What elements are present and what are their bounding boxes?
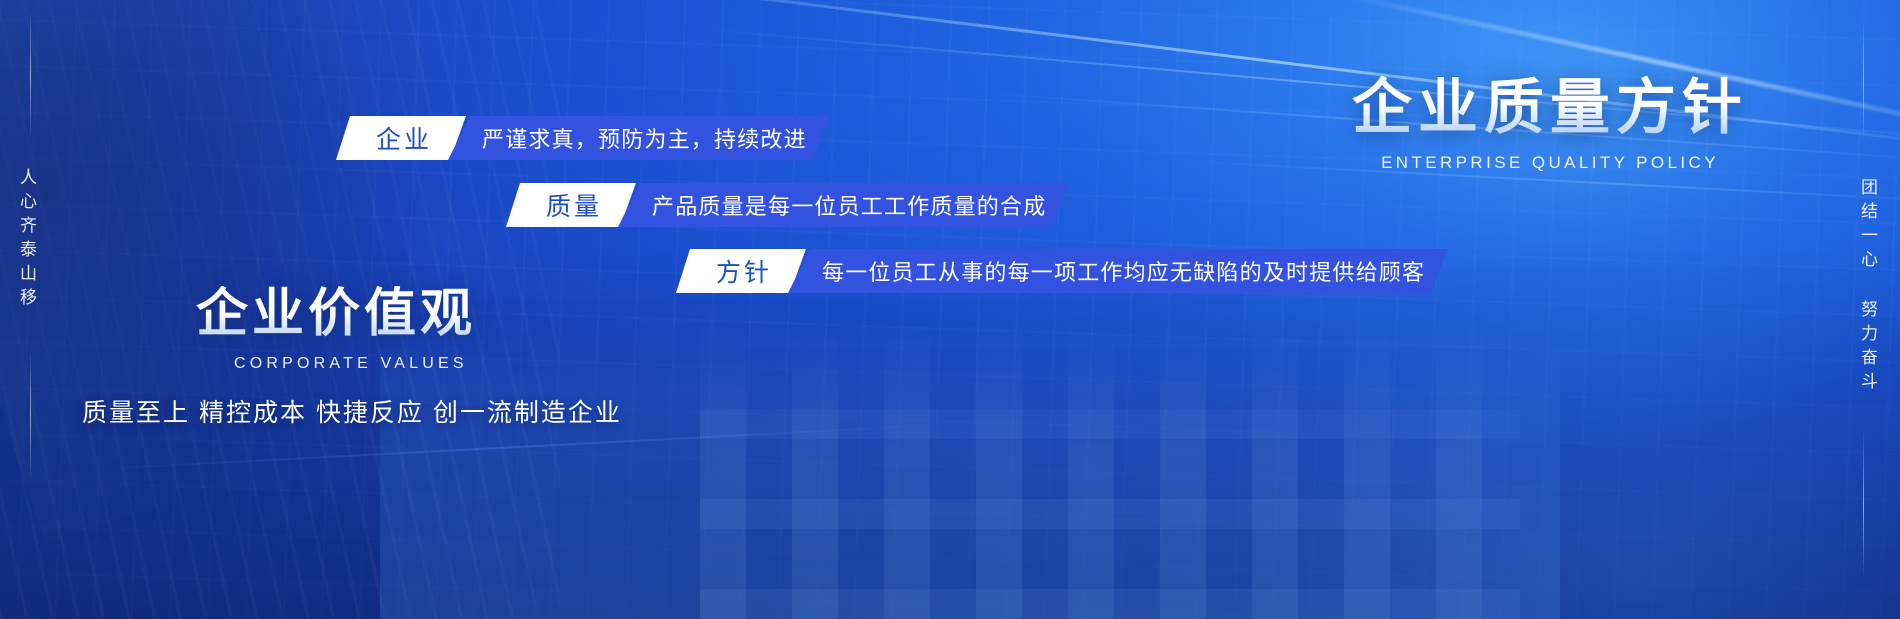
decorative-rule-right-top [1863,22,1864,142]
decorative-rule-left-bottom [30,350,31,480]
policy-row: 质量 产品质量是每一位员工工作质量的合成 [506,183,1068,227]
corporate-values-title: 企业价值观 [196,286,476,343]
corporate-values-slogan: 质量至上 精控成本 快捷反应 创一流制造企业 [82,393,622,429]
policy-row-description: 产品质量是每一位员工工作质量的合成 [618,183,1068,227]
corporate-values-subtitle: CORPORATE VALUES [234,355,476,373]
policy-row: 方针 每一位员工从事的每一项工作均应无缺陷的及时提供给顾客 [676,249,1447,293]
policy-row-tag-label: 质量 [546,187,602,223]
policy-row-description: 每一位员工从事的每一项工作均应无缺陷的及时提供给顾客 [788,249,1447,293]
side-text-left: 人心齐泰山移 [14,168,39,312]
quality-policy-title: 企业质量方针 [1352,76,1748,141]
quality-policy-heading-block: 企业质量方针 ENTERPRISE QUALITY POLICY [1352,76,1748,173]
corporate-policy-banner: 人心齐泰山移 团结一心 努力奋斗 企业质量方针 ENTERPRISE QUALI… [0,0,1900,619]
policy-row-tag-label: 企业 [376,120,432,156]
policy-row: 企业 严谨求真，预防为主，持续改进 [336,116,829,160]
quality-policy-subtitle: ENTERPRISE QUALITY POLICY [1352,153,1748,173]
glow-bottom-right [1260,259,1900,619]
policy-row-description: 严谨求真，预防为主，持续改进 [448,116,829,160]
decorative-rule-right-bottom [1863,430,1864,580]
policy-row-tag: 方针 [676,249,806,293]
policy-row-tag: 质量 [506,183,636,227]
policy-row-tag: 企业 [336,116,466,160]
corporate-values-heading-block: 企业价值观 CORPORATE VALUES [196,286,476,373]
policy-row-tag-label: 方针 [716,253,772,289]
decorative-rule-left-top [30,10,31,140]
side-text-right: 团结一心 努力奋斗 [1855,178,1880,396]
